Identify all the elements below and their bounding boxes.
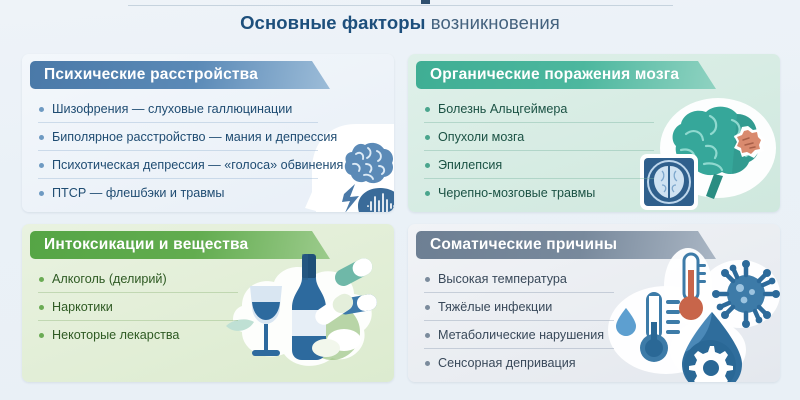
- list-item-label: Метаболические нарушения: [438, 329, 604, 342]
- bullet-dot-icon: [425, 361, 430, 366]
- card-intoxication-substances[interactable]: Интоксикации и вещества: [22, 224, 394, 382]
- bullet-dot-icon: [425, 163, 430, 168]
- factor-cards-grid: Психические расстройства: [22, 54, 780, 394]
- list-item[interactable]: Шизофрения — слуховые галлюцинации: [36, 95, 384, 123]
- list-item[interactable]: Эпилепсия: [422, 151, 770, 179]
- list-item-label: Шизофрения — слуховые галлюцинации: [52, 103, 292, 116]
- list-item[interactable]: Опухоли мозга: [422, 123, 770, 151]
- list-somatic-causes: Высокая температура Тяжёлые инфекции Мет…: [422, 265, 770, 377]
- list-intoxication-substances: Алкоголь (делирий) Наркотики Некоторые л…: [36, 265, 384, 349]
- list-item-label: Некоторые лекарства: [52, 329, 179, 342]
- list-item[interactable]: Болезнь Альцгеймера: [422, 95, 770, 123]
- bullet-dot-icon: [425, 305, 430, 310]
- page-title-light: возникновения: [431, 12, 560, 33]
- list-item[interactable]: ПТСР — флешбэки и травмы: [36, 179, 384, 207]
- bullet-dot-icon: [39, 305, 44, 310]
- list-item-label: Тяжёлые инфекции: [438, 301, 552, 314]
- top-rule: [128, 5, 673, 6]
- list-item[interactable]: Некоторые лекарства: [36, 321, 384, 349]
- card-header-intoxication-substances: Интоксикации и вещества: [30, 231, 330, 259]
- card-mental-disorders[interactable]: Психические расстройства: [22, 54, 394, 212]
- list-item[interactable]: Черепно-мозговые травмы: [422, 179, 770, 207]
- list-item-label: Опухоли мозга: [438, 131, 524, 144]
- list-item[interactable]: Алкоголь (делирий): [36, 265, 384, 293]
- card-header-organic-brain-damage: Органические поражения мозга: [416, 61, 716, 89]
- list-item-label: Болезнь Альцгеймера: [438, 103, 567, 116]
- list-item-label: Эпилепсия: [438, 159, 502, 172]
- list-item[interactable]: Метаболические нарушения: [422, 321, 770, 349]
- card-header-mental-disorders: Психические расстройства: [30, 61, 330, 89]
- list-item-label: Психотическая депрессия — «голоса» обвин…: [52, 159, 343, 172]
- list-item[interactable]: Сенсорная депривация: [422, 349, 770, 377]
- list-item[interactable]: Биполярное расстройство — мания и депрес…: [36, 123, 384, 151]
- bullet-dot-icon: [425, 277, 430, 282]
- card-header-somatic-causes: Соматические причины: [416, 231, 716, 259]
- list-item[interactable]: Психотическая депрессия — «голоса» обвин…: [36, 151, 384, 179]
- list-item-label: Алкоголь (делирий): [52, 273, 167, 286]
- list-item[interactable]: Тяжёлые инфекции: [422, 293, 770, 321]
- page-title-strong: Основные факторы: [240, 12, 425, 33]
- bullet-dot-icon: [425, 135, 430, 140]
- top-divider-strip: [0, 0, 800, 8]
- list-item-label: Сенсорная депривация: [438, 357, 576, 370]
- page-title: Основные факторы возникновения: [0, 12, 800, 34]
- bullet-dot-icon: [39, 191, 44, 196]
- card-organic-brain-damage[interactable]: Органические поражения мозга: [408, 54, 780, 212]
- bullet-dot-icon: [39, 333, 44, 338]
- bullet-dot-icon: [39, 135, 44, 140]
- list-item-label: Черепно-мозговые травмы: [438, 187, 595, 200]
- clipped-text-fragment: [421, 0, 430, 4]
- bullet-dot-icon: [39, 277, 44, 282]
- list-item[interactable]: Высокая температура: [422, 265, 770, 293]
- list-item-label: ПТСР — флешбэки и травмы: [52, 187, 224, 200]
- bullet-dot-icon: [39, 163, 44, 168]
- list-item-label: Наркотики: [52, 301, 113, 314]
- list-item-label: Биполярное расстройство — мания и депрес…: [52, 131, 337, 144]
- list-mental-disorders: Шизофрения — слуховые галлюцинации Бипол…: [36, 95, 384, 207]
- bullet-dot-icon: [425, 191, 430, 196]
- list-organic-brain-damage: Болезнь Альцгеймера Опухоли мозга Эпилеп…: [422, 95, 770, 207]
- bullet-dot-icon: [425, 107, 430, 112]
- bullet-dot-icon: [39, 107, 44, 112]
- bullet-dot-icon: [425, 333, 430, 338]
- list-item[interactable]: Наркотики: [36, 293, 384, 321]
- card-somatic-causes[interactable]: Соматические причины: [408, 224, 780, 382]
- list-item-label: Высокая температура: [438, 273, 567, 286]
